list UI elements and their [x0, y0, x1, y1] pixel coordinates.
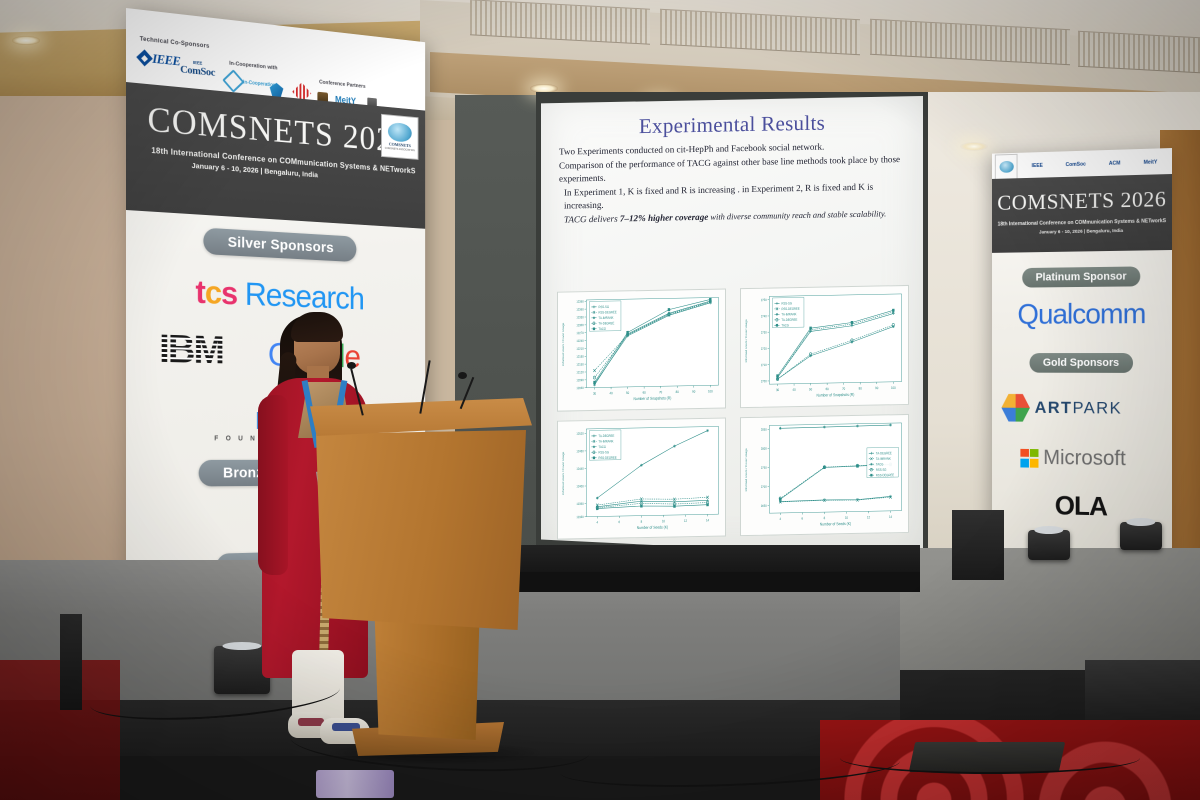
svg-text:12240: 12240 — [576, 339, 584, 344]
artpark-art: ART — [1035, 398, 1073, 417]
svg-text:12120: 12120 — [576, 370, 584, 375]
svg-text:12390: 12390 — [576, 299, 584, 304]
svg-text:12: 12 — [867, 515, 870, 519]
svg-text:8: 8 — [824, 515, 826, 519]
svg-text:2700: 2700 — [761, 484, 767, 488]
svg-text:2750: 2750 — [761, 298, 767, 302]
microsoft-squares-icon — [1020, 448, 1038, 467]
chart-bottom-right: 46810121426502700275028002850Number of S… — [740, 413, 909, 536]
microphone-head-icon — [347, 362, 356, 369]
tcs-research-logo: tcs Research — [195, 273, 364, 317]
svg-text:RSS-SG: RSS-SG — [876, 467, 887, 472]
microphone-head-icon — [458, 372, 467, 379]
podium-body — [316, 430, 526, 630]
svg-text:40: 40 — [610, 391, 613, 395]
conference-partners-label: Conference Partners — [319, 80, 365, 90]
projection-screen: Experimental Results Two Experiments con… — [541, 96, 923, 558]
svg-text:2720: 2720 — [761, 346, 767, 350]
comsoc-bottom-text: ComSoc — [180, 64, 215, 79]
artpark-hex-icon — [1001, 393, 1029, 423]
svg-text:TA-IMRANK: TA-IMRANK — [598, 315, 614, 320]
svg-text:Number of Seeds (K): Number of Seeds (K) — [820, 521, 851, 526]
light-lens-icon — [222, 642, 261, 650]
svg-text:60: 60 — [643, 390, 646, 394]
gold-sponsors-label: Gold Sponsors — [1029, 353, 1132, 373]
svg-text:12440: 12440 — [576, 466, 584, 471]
svg-text:12: 12 — [684, 518, 687, 522]
tcs-s: s — [221, 275, 237, 312]
stage-step — [1085, 660, 1200, 720]
svg-text:12480: 12480 — [576, 448, 584, 453]
svg-text:12210: 12210 — [576, 346, 584, 351]
pa-speaker-box — [952, 510, 1004, 580]
svg-text:12150: 12150 — [576, 362, 584, 367]
artpark-park: PARK — [1073, 398, 1123, 417]
svg-text:2650: 2650 — [761, 503, 767, 507]
svg-text:10: 10 — [845, 515, 848, 519]
svg-text:30: 30 — [776, 388, 779, 392]
svg-text:TA-IMRANK: TA-IMRANK — [876, 456, 892, 461]
stage-light-fixture — [1028, 530, 1070, 560]
svg-text:TACG: TACG — [876, 462, 884, 467]
svg-text:RSS-SG: RSS-SG — [781, 301, 792, 306]
svg-text:12330: 12330 — [576, 514, 584, 519]
incooperation-label: In-Cooperation with — [229, 61, 277, 72]
svg-text:70: 70 — [842, 386, 845, 390]
svg-text:RSS-DEGREE: RSS-DEGREE — [598, 310, 616, 315]
slide-charts-grid: 3040506070809010012060120901212012150121… — [557, 285, 909, 540]
svg-text:4: 4 — [597, 520, 599, 524]
ieee-wordmark: IEEE — [152, 51, 180, 70]
comsnets-emblem-icon: COMSNETS COMSNETS ASSOCIATION — [381, 114, 418, 160]
svg-text:12330: 12330 — [576, 315, 584, 320]
svg-text:2750: 2750 — [761, 465, 767, 469]
svg-text:12180: 12180 — [576, 354, 584, 359]
svg-text:90: 90 — [692, 389, 695, 393]
svg-text:TA-DEGREE: TA-DEGREE — [598, 321, 614, 326]
microsoft-logo: Microsoft — [1020, 446, 1125, 471]
svg-text:50: 50 — [626, 391, 629, 395]
svg-text:12090: 12090 — [576, 378, 584, 383]
svg-text:TA-DEGREE: TA-DEGREE — [781, 317, 797, 322]
svg-text:TACG: TACG — [598, 327, 606, 332]
chart-top-right: 3040506070809010027002710272027302740275… — [740, 285, 909, 408]
microsoft-wordmark: Microsoft — [1043, 446, 1126, 471]
globe-icon — [999, 161, 1013, 173]
svg-text:12400: 12400 — [576, 484, 584, 489]
banner-right-subtitle-2: January 6 - 10, 2026 | Bengaluru, India — [992, 228, 1172, 236]
stage-wall-edge-left — [60, 614, 82, 710]
logo-comsoc: ComSoc — [1066, 162, 1086, 169]
svg-text:6: 6 — [619, 519, 621, 523]
svg-text:2700: 2700 — [761, 379, 767, 383]
banner-right-logo-row: IEEE ComSoc ACM MeitY — [1018, 159, 1172, 169]
svg-text:8: 8 — [641, 519, 643, 523]
tcs-c: c — [205, 274, 221, 311]
svg-text:4: 4 — [780, 516, 782, 520]
slide-title: Experimental Results — [557, 109, 907, 141]
technical-cosponsors-label: Technical Co-Sponsors — [140, 35, 210, 49]
svg-text:Informed Users / Cover Usage: Informed Users / Cover Usage — [744, 447, 748, 491]
logo-ieee: IEEE — [1032, 163, 1043, 169]
svg-text:Informed Users / Cover Usage: Informed Users / Cover Usage — [744, 319, 748, 363]
svg-text:TA-DEGREE: TA-DEGREE — [876, 450, 892, 455]
floor-cable — [840, 742, 1140, 774]
qualcomm-logo: Qualcomm — [1017, 298, 1145, 331]
slide-highlight-prefix: TACG delivers — [564, 213, 620, 224]
right-conference-banner: IEEE ComSoc ACM MeitY COMSNETS 2026 18th… — [992, 148, 1172, 566]
svg-text:70: 70 — [659, 390, 662, 394]
chart-bottom-left: 468101214123301236012400124401248012520N… — [557, 417, 726, 540]
comsnets-emblem-right-icon — [995, 154, 1018, 180]
svg-text:12360: 12360 — [576, 307, 584, 312]
svg-text:80: 80 — [859, 386, 862, 390]
svg-text:2800: 2800 — [761, 446, 767, 450]
svg-text:12300: 12300 — [576, 323, 584, 328]
conference-photo-scene: Experimental Results Two Experiments con… — [0, 0, 1200, 800]
svg-text:RSS-SG: RSS-SG — [598, 450, 609, 455]
platinum-sponsor-label: Platinum Sponsor — [1022, 266, 1140, 287]
svg-text:90: 90 — [875, 386, 878, 390]
svg-text:10: 10 — [662, 518, 665, 522]
svg-text:2730: 2730 — [761, 330, 767, 334]
tcs-t: t — [195, 273, 204, 310]
svg-text:Informed Users / Cover Usage: Informed Users / Cover Usage — [561, 322, 565, 366]
ieee-logo-icon: IEEE — [139, 49, 181, 69]
svg-text:2850: 2850 — [761, 427, 767, 431]
slide-body: Two Experiments conducted on cit-HepPh a… — [557, 139, 907, 226]
svg-text:TA-DEGREE: TA-DEGREE — [598, 433, 614, 438]
ieee-comsoc-logo-icon: IEEE ComSoc — [180, 59, 215, 79]
ola-logo: OLA — [1055, 491, 1107, 523]
chart-top-left: 3040506070809010012060120901212012150121… — [557, 288, 726, 411]
svg-text:Number of Seeds (K): Number of Seeds (K) — [637, 525, 668, 530]
svg-text:12520: 12520 — [576, 431, 584, 436]
svg-text:Number of Snapshots (R): Number of Snapshots (R) — [634, 396, 672, 401]
svg-text:40: 40 — [793, 387, 796, 391]
svg-text:30: 30 — [593, 391, 596, 395]
banner-right-subtitle-1: 18th International Conference on COMmuni… — [992, 218, 1172, 228]
svg-text:50: 50 — [809, 387, 812, 391]
light-lens-icon — [1034, 526, 1063, 534]
svg-text:100: 100 — [891, 386, 896, 390]
svg-text:RSS-DEGREE: RSS-DEGREE — [876, 472, 894, 477]
slide-highlight-suffix: with diverse community reach and stable … — [708, 209, 886, 221]
globe-icon — [388, 122, 412, 143]
svg-text:RSS-SG: RSS-SG — [598, 305, 609, 310]
svg-text:12270: 12270 — [576, 331, 584, 336]
svg-text:Number of Snapshots (R): Number of Snapshots (R) — [817, 393, 855, 398]
ceiling-downlight — [960, 142, 988, 151]
svg-text:TA-IMRANK: TA-IMRANK — [598, 439, 614, 444]
svg-text:60: 60 — [826, 387, 829, 391]
svg-text:14: 14 — [889, 514, 892, 518]
svg-text:TACG: TACG — [598, 444, 606, 449]
svg-text:RSS-DEGREE: RSS-DEGREE — [598, 455, 616, 460]
acm-logo-icon: In-Cooperation — [225, 72, 275, 93]
light-lens-icon — [1126, 518, 1155, 526]
banner-right-title: COMSNETS 2026 — [992, 186, 1172, 216]
water-bottles — [316, 770, 394, 798]
svg-text:TACG: TACG — [781, 323, 789, 328]
ibm-logo: IBM — [159, 327, 223, 373]
svg-text:2710: 2710 — [761, 363, 767, 367]
artpark-logo: ARTPARK — [1001, 393, 1122, 423]
svg-text:14: 14 — [706, 518, 709, 522]
stage-light-fixture — [1120, 522, 1162, 550]
banner-right-title-block: COMSNETS 2026 18th International Confere… — [992, 174, 1172, 253]
svg-text:RSS-DEGREE: RSS-DEGREE — [781, 306, 799, 311]
svg-text:2740: 2740 — [761, 314, 767, 318]
svg-text:80: 80 — [676, 390, 679, 394]
slide-highlight-bold: 7–12% higher coverage — [620, 211, 708, 223]
svg-text:100: 100 — [708, 389, 713, 393]
svg-text:Informed Users / Cover Usage: Informed Users / Cover Usage — [561, 451, 565, 495]
artpark-wordmark: ARTPARK — [1035, 398, 1122, 418]
svg-text:12360: 12360 — [576, 501, 584, 506]
logo-acm: ACM — [1109, 161, 1121, 167]
ceiling-downlight — [12, 36, 40, 45]
silver-sponsors-label: Silver Sponsors — [203, 228, 356, 263]
acm-diamond-icon — [222, 69, 244, 92]
presentation-slide: Experimental Results Two Experiments con… — [541, 96, 923, 558]
ceiling-vent — [1078, 31, 1200, 73]
svg-text:TA-IMRANK: TA-IMRANK — [781, 312, 797, 317]
tcs-research-word: Research — [237, 275, 364, 316]
ieee-diamond-icon — [136, 49, 153, 66]
logo-meity: MeitY — [1144, 159, 1158, 165]
svg-text:6: 6 — [802, 516, 804, 520]
speaker-arm — [258, 395, 288, 575]
svg-text:12060: 12060 — [576, 386, 584, 391]
